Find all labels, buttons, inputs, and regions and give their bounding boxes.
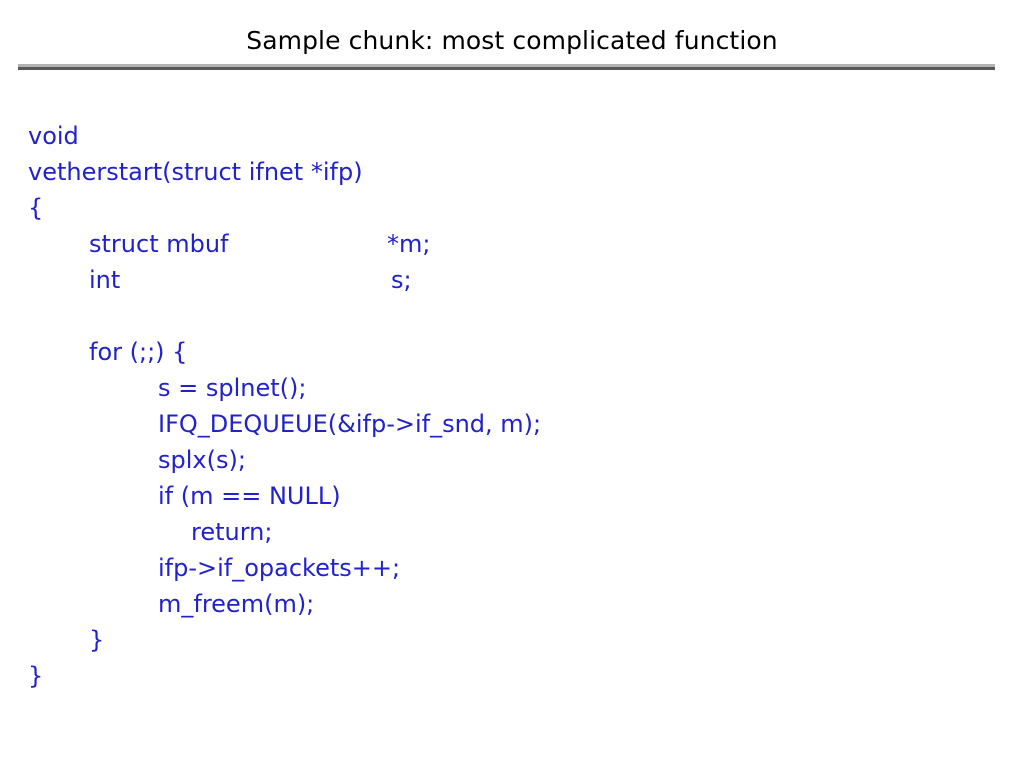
code-line-declaration: struct mbuf*m;: [28, 226, 988, 262]
code-line-blank: [28, 298, 988, 334]
title-divider: [18, 64, 995, 70]
code-line: return;: [28, 514, 988, 550]
code-line: vetherstart(struct ifnet *ifp): [28, 154, 988, 190]
declaration-type: int: [89, 262, 387, 298]
declaration-type: struct mbuf: [89, 226, 387, 262]
code-line: void: [28, 118, 988, 154]
slide: Sample chunk: most complicated function …: [0, 0, 1024, 768]
code-block: void vetherstart(struct ifnet *ifp) { st…: [28, 118, 988, 694]
code-line: splx(s);: [28, 442, 988, 478]
code-line-declaration: ints;: [28, 262, 988, 298]
declaration-name: *m;: [387, 226, 430, 262]
code-line: for (;;) {: [28, 334, 988, 370]
code-line: s = splnet();: [28, 370, 988, 406]
code-line: if (m == NULL): [28, 478, 988, 514]
code-line: IFQ_DEQUEUE(&ifp->if_snd, m);: [28, 406, 988, 442]
code-line: }: [28, 658, 988, 694]
page-title: Sample chunk: most complicated function: [0, 25, 1024, 56]
code-line: m_freem(m);: [28, 586, 988, 622]
code-line: {: [28, 190, 988, 226]
divider-dark-band: [18, 67, 995, 70]
declaration-name: s;: [387, 262, 412, 298]
code-line: }: [28, 622, 988, 658]
code-line: ifp->if_opackets++;: [28, 550, 988, 586]
